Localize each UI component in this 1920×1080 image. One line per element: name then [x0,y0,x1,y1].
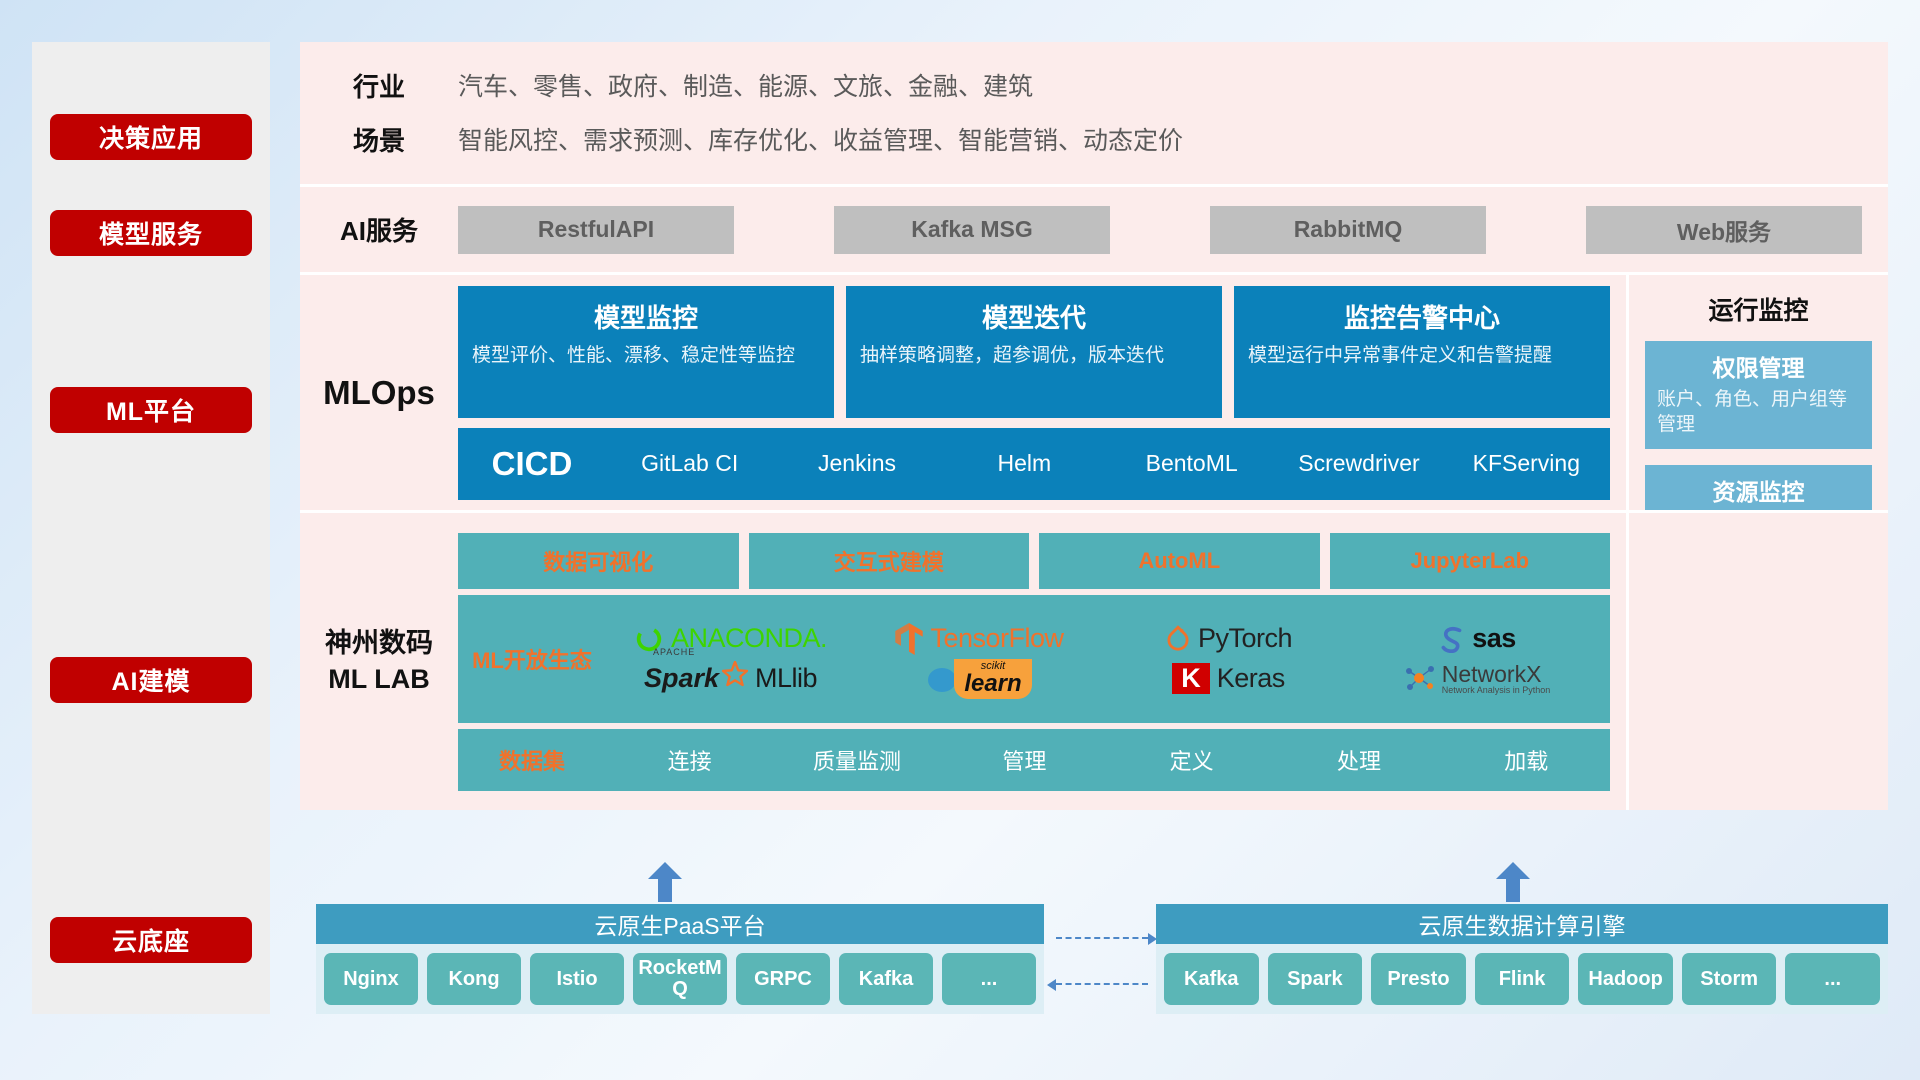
modeling-band: 神州数码 ML LAB 数据可视化 交互式建模 AutoML JupyterLa… [300,510,1888,810]
spark-star-icon [722,661,748,687]
cicd-bar: CICD GitLab CI Jenkins Helm BentoML Scre… [458,428,1610,500]
engine-chip[interactable]: Spark [1268,953,1363,1005]
dataset-label: 数据集 [458,744,606,776]
mlops-stack: 模型监控 模型评价、性能、漂移、稳定性等监控 模型迭代 抽样策略调整，超参调优，… [458,286,1626,500]
mlops-card[interactable]: 模型监控 模型评价、性能、漂移、稳定性等监控 [458,286,834,418]
mlops-card[interactable]: 模型迭代 抽样策略调整，超参调优，版本迭代 [846,286,1222,418]
pytorch-logo: PyTorch [1165,623,1292,654]
paas-chip[interactable]: Nginx [324,953,418,1005]
stage-chip[interactable]: 云底座 [50,917,252,963]
engine-chip[interactable]: ... [1785,953,1880,1005]
pytorch-logo-text: PyTorch [1198,623,1292,654]
paas-chip[interactable]: Kong [427,953,521,1005]
dataset-item[interactable]: 加载 [1443,744,1610,776]
paas-title: 云原生PaaS平台 [316,904,1044,944]
monitoring-card-title: 资源监控 [1657,473,1860,507]
mllib-logo-text: MLlib [755,663,817,694]
ai-service-items: RestfulAPI Kafka MSG RabbitMQ Web服务 [458,206,1888,254]
engine-to-paas-arrow-icon [1056,983,1148,985]
stage-rail: 决策应用模型服务ML平台AI建模云底座 [32,42,270,1014]
architecture-main: 行业 汽车、零售、政府、制造、能源、文旅、金融、建筑 场景 智能风控、需求预测、… [300,42,1888,810]
networkx-logo-text: NetworkX [1442,662,1551,686]
industry-key: 行业 [300,67,458,104]
mlops-card-desc: 模型评价、性能、漂移、稳定性等监控 [472,343,820,369]
industry-value: 汽车、零售、政府、制造、能源、文旅、金融、建筑 [458,67,1033,103]
engine-chip[interactable]: Storm [1682,953,1777,1005]
modeling-right-spacer [1626,513,1888,810]
keras-mark-icon: K [1172,663,1210,695]
mlops-card[interactable]: 监控告警中心 模型运行中异常事件定义和告警提醒 [1234,286,1610,418]
scenario-row: 场景 智能风控、需求预测、库存优化、收益管理、智能营销、动态定价 [300,112,1888,166]
dataset-row: 数据集 连接 质量监测 管理 定义 处理 加载 [458,729,1610,791]
keras-logo-text: Keras [1217,663,1285,694]
engine-up-arrow-icon [1496,862,1530,902]
engine-chips: Kafka Spark Presto Flink Hadoop Storm ..… [1156,944,1888,1014]
dataset-item[interactable]: 定义 [1108,744,1275,776]
dataset-item[interactable]: 处理 [1275,744,1442,776]
scenario-key: 场景 [300,121,458,158]
stage-chip[interactable]: 决策应用 [50,114,252,160]
paas-chip[interactable]: Istio [530,953,624,1005]
modeling-tab[interactable]: 交互式建模 [749,533,1030,589]
modeling-tab[interactable]: AutoML [1039,533,1320,589]
engine-chip[interactable]: Hadoop [1578,953,1673,1005]
monitoring-card-title: 权限管理 [1657,349,1860,383]
cicd-item[interactable]: KFServing [1443,452,1610,475]
modeling-label-line2: ML LAB [300,662,458,697]
ai-service-chip[interactable]: Web服务 [1586,206,1862,254]
scenario-value: 智能风控、需求预测、库存优化、收益管理、智能营销、动态定价 [458,121,1183,157]
networkx-subtitle: Network Analysis in Python [1442,686,1551,695]
keras-logo: K Keras [1172,663,1285,695]
tensorflow-logo: TensorFlow [895,623,1063,655]
engine-group: 云原生数据计算引擎 Kafka Spark Presto Flink Hadoo… [1156,904,1888,1014]
industry-band: 行业 汽车、零售、政府、制造、能源、文旅、金融、建筑 场景 智能风控、需求预测、… [300,42,1888,184]
dataset-item[interactable]: 管理 [941,744,1108,776]
pytorch-flame-icon [1165,624,1191,654]
networkx-text-block: NetworkX Network Analysis in Python [1442,662,1551,696]
modeling-stack: 数据可视化 交互式建模 AutoML JupyterLab ML开放生态 ANA… [458,533,1626,791]
ai-service-chip[interactable]: Kafka MSG [834,206,1110,254]
engine-chip[interactable]: Flink [1475,953,1570,1005]
paas-chips: Nginx Kong Istio RocketMQ GRPC Kafka ... [316,944,1044,1014]
mlops-card-title: 模型监控 [472,298,820,335]
tensorflow-mark-icon [895,623,923,655]
stage-chip[interactable]: AI建模 [50,657,252,703]
mlops-band: MLOps 模型监控 模型评价、性能、漂移、稳定性等监控 模型迭代 抽样策略调整… [300,272,1888,510]
ai-service-chip[interactable]: RabbitMQ [1210,206,1486,254]
paas-chip[interactable]: ... [942,953,1036,1005]
paas-chip[interactable]: RocketMQ [633,953,727,1005]
monitoring-card[interactable]: 权限管理 账户、角色、用户组等管理 [1645,341,1872,449]
industry-row: 行业 汽车、零售、政府、制造、能源、文旅、金融、建筑 [300,58,1888,112]
modeling-tabs: 数据可视化 交互式建模 AutoML JupyterLab [458,533,1610,589]
ai-service-band: AI服务 RestfulAPI Kafka MSG RabbitMQ Web服务 [300,184,1888,272]
cicd-item[interactable]: BentoML [1108,452,1275,475]
paas-chip[interactable]: Kafka [839,953,933,1005]
ml-ecosystem-logos: ANACONDA. TensorFlow [606,619,1610,699]
sas-logo: sas [1439,623,1516,654]
mlops-label: MLOps [300,374,458,412]
paas-group: 云原生PaaS平台 Nginx Kong Istio RocketMQ GRPC… [316,904,1044,1014]
spark-word-text: Spark [644,663,719,693]
modeling-label: 神州数码 ML LAB [300,626,458,696]
dataset-item[interactable]: 质量监测 [773,744,940,776]
mlops-card-title: 监控告警中心 [1248,298,1596,335]
paas-to-engine-arrow-icon [1056,937,1148,939]
mlops-cards: 模型监控 模型评价、性能、漂移、稳定性等监控 模型迭代 抽样策略调整，超参调优，… [458,286,1610,418]
cicd-item[interactable]: Helm [941,452,1108,475]
cicd-item[interactable]: Screwdriver [1275,452,1442,475]
cloud-foundation: 云原生PaaS平台 Nginx Kong Istio RocketMQ GRPC… [300,880,1888,1020]
modeling-tab[interactable]: 数据可视化 [458,533,739,589]
tensorflow-logo-text: TensorFlow [930,623,1063,654]
engine-chip[interactable]: Presto [1371,953,1466,1005]
modeling-tab[interactable]: JupyterLab [1330,533,1611,589]
ai-service-chip[interactable]: RestfulAPI [458,206,734,254]
engine-title: 云原生数据计算引擎 [1156,904,1888,944]
cicd-item[interactable]: Jenkins [773,452,940,475]
ml-ecosystem-row: ML开放生态 ANACONDA. [458,595,1610,723]
spark-apache-text: APACHE [653,647,695,657]
sas-swoosh-icon [1439,625,1465,653]
cicd-title: CICD [458,445,606,483]
stage-chip[interactable]: 模型服务 [50,210,252,256]
paas-chip[interactable]: GRPC [736,953,830,1005]
mlops-left: MLOps 模型监控 模型评价、性能、漂移、稳定性等监控 模型迭代 抽样策略调整… [300,275,1626,510]
scikit-learn-badge: scikit learn [954,659,1031,699]
mlops-card-desc: 抽样策略调整，超参调优，版本迭代 [860,343,1208,369]
mlops-card-desc: 模型运行中异常事件定义和告警提醒 [1248,343,1596,369]
monitoring-card-desc: 账户、角色、用户组等管理 [1657,388,1860,437]
stage-chip[interactable]: ML平台 [50,387,252,433]
monitoring-column: 运行监控 权限管理 账户、角色、用户组等管理 资源监控 POD运行监控，K8S资… [1626,275,1888,510]
ai-service-label: AI服务 [300,211,458,248]
dataset-item[interactable]: 连接 [606,744,773,776]
monitoring-title: 运行监控 [1645,291,1872,327]
cicd-item[interactable]: GitLab CI [606,452,773,475]
networkx-graph-icon [1405,664,1435,692]
paas-up-arrow-icon [648,862,682,902]
learn-word-text: learn [964,672,1021,696]
mlops-card-title: 模型迭代 [860,298,1208,335]
spark-mllib-logo: APACHE Spark MLlib [644,663,817,694]
ml-ecosystem-label: ML开放生态 [458,643,606,675]
engine-chip[interactable]: Kafka [1164,953,1259,1005]
modeling-left: 神州数码 ML LAB 数据可视化 交互式建模 AutoML JupyterLa… [300,513,1626,810]
scikit-learn-logo: scikit learn [927,659,1031,699]
sas-logo-text: sas [1472,623,1516,654]
modeling-label-line1: 神州数码 [300,626,458,661]
networkx-logo: NetworkX Network Analysis in Python [1405,662,1551,696]
